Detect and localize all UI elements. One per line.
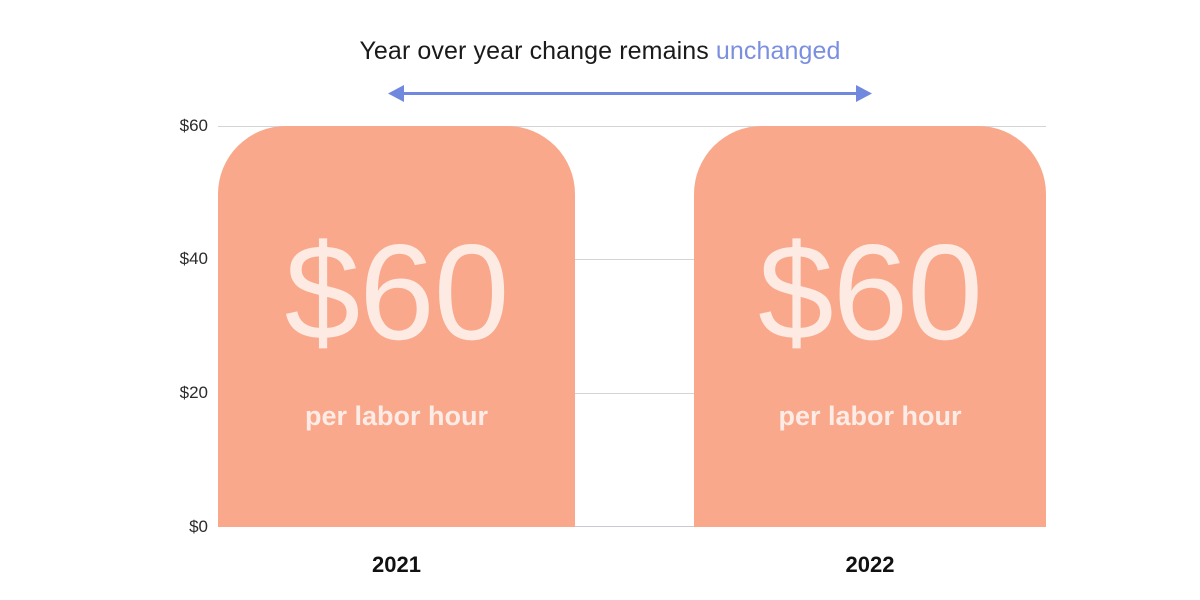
bar-value-label-2022: $60 xyxy=(694,224,1046,360)
double-headed-arrow-annotation xyxy=(385,80,875,108)
bar-2021[interactable]: $60 per labor hour xyxy=(218,126,575,527)
arrow-icon xyxy=(385,80,875,108)
bar-2022[interactable]: $60 per labor hour xyxy=(694,126,1046,527)
bar-value-label-2021: $60 xyxy=(218,224,575,360)
y-axis-tick-40: $40 xyxy=(148,249,208,269)
x-axis-tick-2021: 2021 xyxy=(218,552,575,578)
chart-title-accent: unchanged xyxy=(716,37,841,65)
bar-sublabel-2022: per labor hour xyxy=(694,400,1046,432)
bar-sublabel-2021: per labor hour xyxy=(218,400,575,432)
y-axis-tick-60: $60 xyxy=(148,116,208,136)
plot-area: $60 per labor hour $60 per labor hour xyxy=(218,126,1046,527)
chart-title: Year over year change remains unchanged xyxy=(0,33,1200,69)
chart-canvas: Year over year change remains unchanged … xyxy=(0,0,1200,600)
y-axis-tick-20: $20 xyxy=(148,383,208,403)
chart-title-plain: Year over year change remains xyxy=(359,37,715,65)
x-axis-tick-2022: 2022 xyxy=(694,552,1046,578)
y-axis-tick-0: $0 xyxy=(148,517,208,537)
